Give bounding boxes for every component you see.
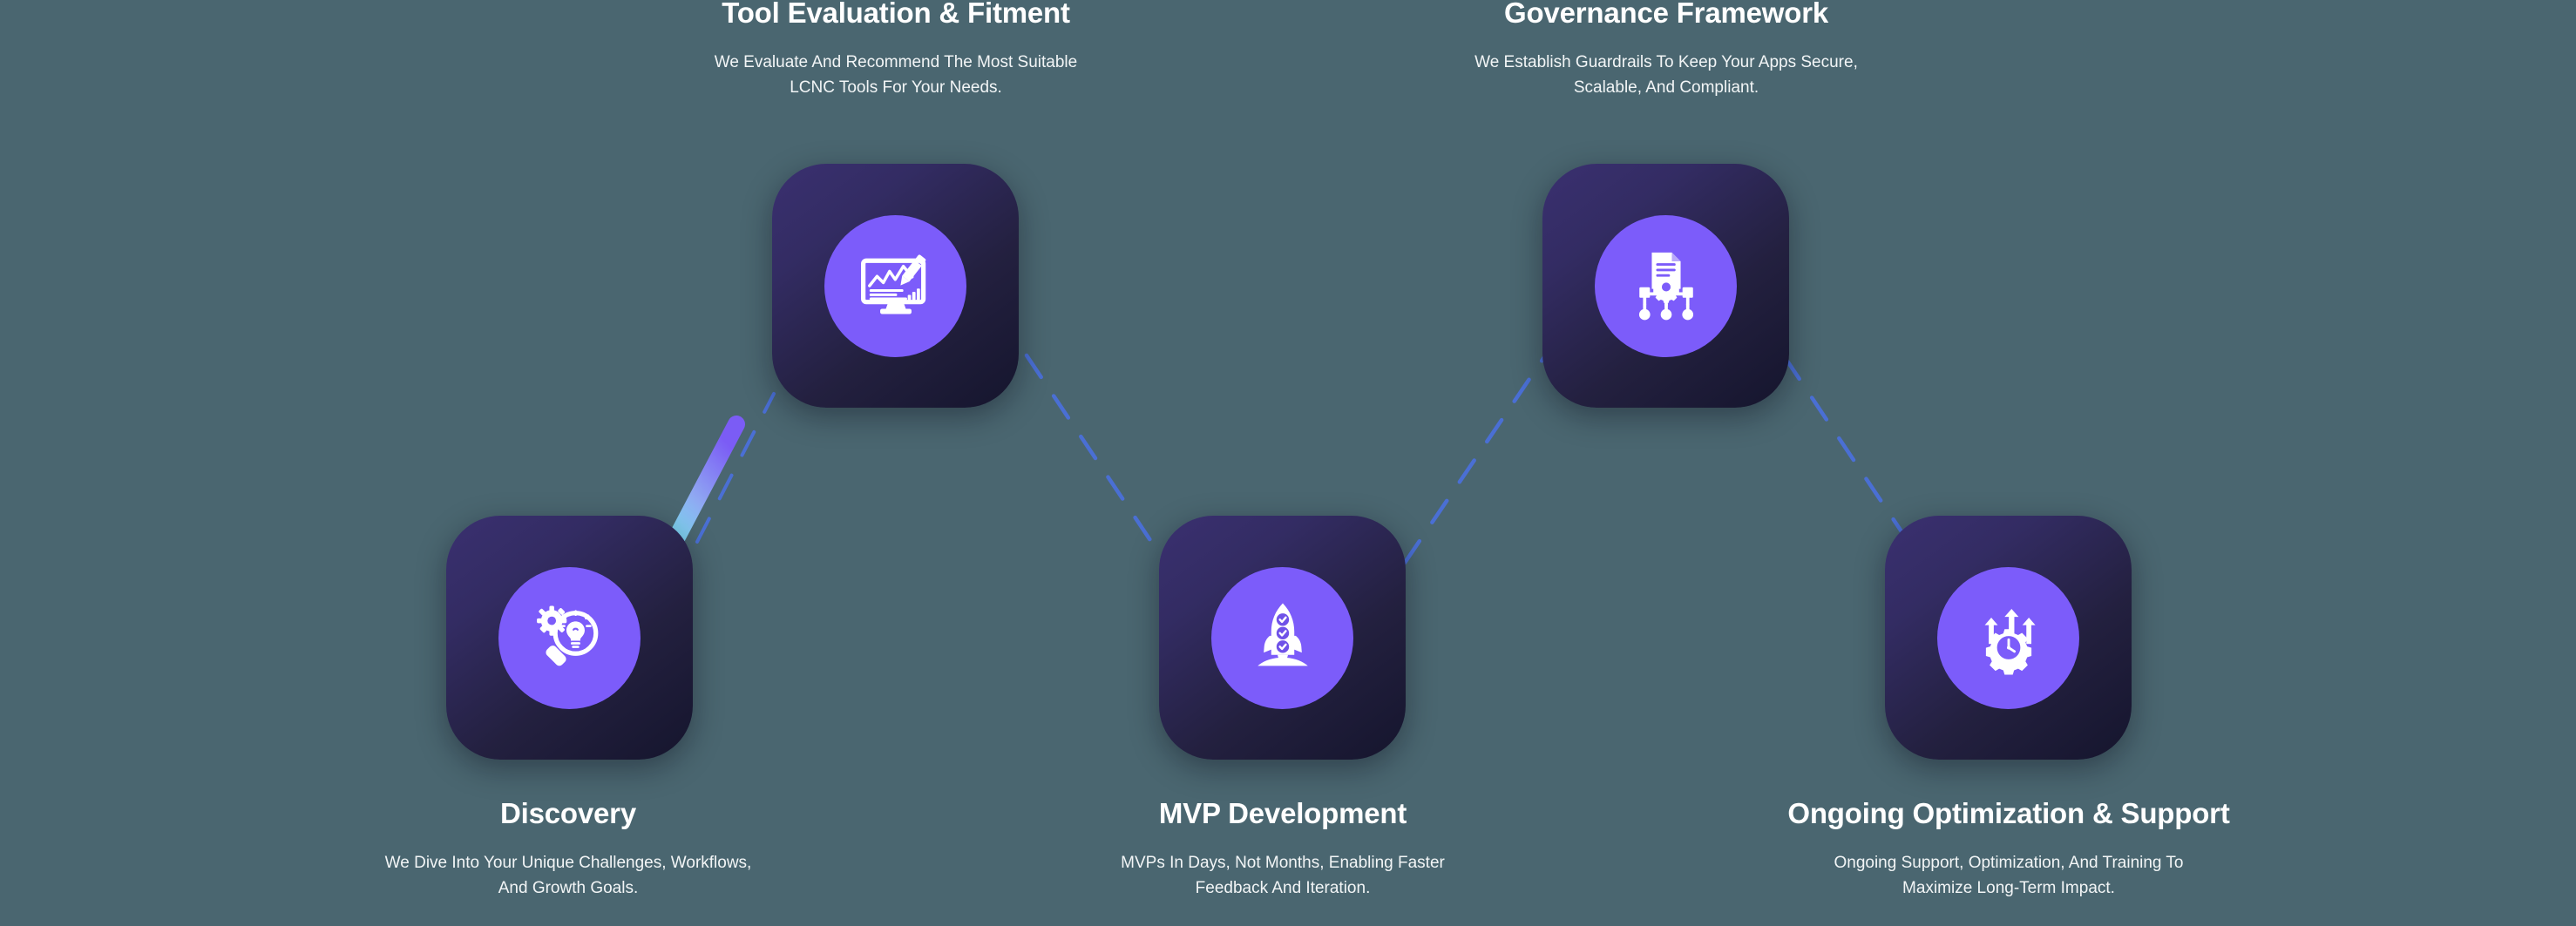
connector-layer <box>0 0 2576 926</box>
step-description-mvp: MVPs In Days, Not Months, Enabling Faste… <box>1039 850 1527 902</box>
desc-line: We Evaluate And Recommend The Most Suita… <box>652 50 1140 75</box>
rocket-checklist-icon <box>1243 598 1323 678</box>
step-text-governance: Governance Framework We Establish Guardr… <box>1422 0 1910 100</box>
icon-disc-tooleval <box>824 215 966 357</box>
step-text-mvp: MVP Development MVPs In Days, Not Months… <box>1039 797 1527 901</box>
step-description-discovery: We Dive Into Your Unique Challenges, Wor… <box>324 850 812 902</box>
connector-tooleval-to-mvp <box>1027 355 1164 561</box>
desc-line: We Dive Into Your Unique Challenges, Wor… <box>324 850 812 875</box>
step-title-mvp: MVP Development <box>1039 797 1527 831</box>
icon-disc-discovery <box>498 567 641 709</box>
step-text-discovery: Discovery We Dive Into Your Unique Chall… <box>324 797 812 901</box>
desc-line: We Establish Guardrails To Keep Your App… <box>1422 50 1910 75</box>
connector-mvp-to-governance <box>1405 357 1544 563</box>
step-card-discovery[interactable] <box>446 516 693 760</box>
icon-disc-optimization <box>1937 567 2079 709</box>
desc-line: And Growth Goals. <box>324 875 812 901</box>
icon-disc-mvp <box>1211 567 1353 709</box>
desc-line: LCNC Tools For Your Needs. <box>652 75 1140 100</box>
desc-line: Maximize Long-Term Impact. <box>1765 875 2253 901</box>
desc-line: MVPs In Days, Not Months, Enabling Faste… <box>1039 850 1527 875</box>
desc-line: Scalable, And Compliant. <box>1422 75 1910 100</box>
step-description-governance: We Establish Guardrails To Keep Your App… <box>1422 50 1910 101</box>
process-flow-diagram: Discovery We Dive Into Your Unique Chall… <box>0 0 2576 926</box>
step-title-tooleval: Tool Evaluation & Fitment <box>652 0 1140 30</box>
step-card-tooleval[interactable] <box>772 164 1019 408</box>
step-title-discovery: Discovery <box>324 797 812 831</box>
step-title-optimization: Ongoing Optimization & Support <box>1765 797 2253 831</box>
step-description-tooleval: We Evaluate And Recommend The Most Suita… <box>652 50 1140 101</box>
gear-clock-arrows-icon <box>1969 598 2049 678</box>
step-description-optimization: Ongoing Support, Optimization, And Train… <box>1765 850 2253 902</box>
icon-disc-governance <box>1595 215 1737 357</box>
step-card-optimization[interactable] <box>1885 516 2132 760</box>
step-card-governance[interactable] <box>1542 164 1789 408</box>
magnifier-lightbulb-gear-icon <box>530 598 610 678</box>
document-gear-hierarchy-icon <box>1626 246 1706 326</box>
step-card-mvp[interactable] <box>1159 516 1406 760</box>
monitor-chart-pen-icon <box>856 246 936 326</box>
step-text-optimization: Ongoing Optimization & Support Ongoing S… <box>1765 797 2253 901</box>
desc-line: Ongoing Support, Optimization, And Train… <box>1765 850 2253 875</box>
step-text-tooleval: Tool Evaluation & Fitment We Evaluate An… <box>652 0 1140 100</box>
desc-line: Feedback And Iteration. <box>1039 875 1527 901</box>
step-title-governance: Governance Framework <box>1422 0 1910 30</box>
